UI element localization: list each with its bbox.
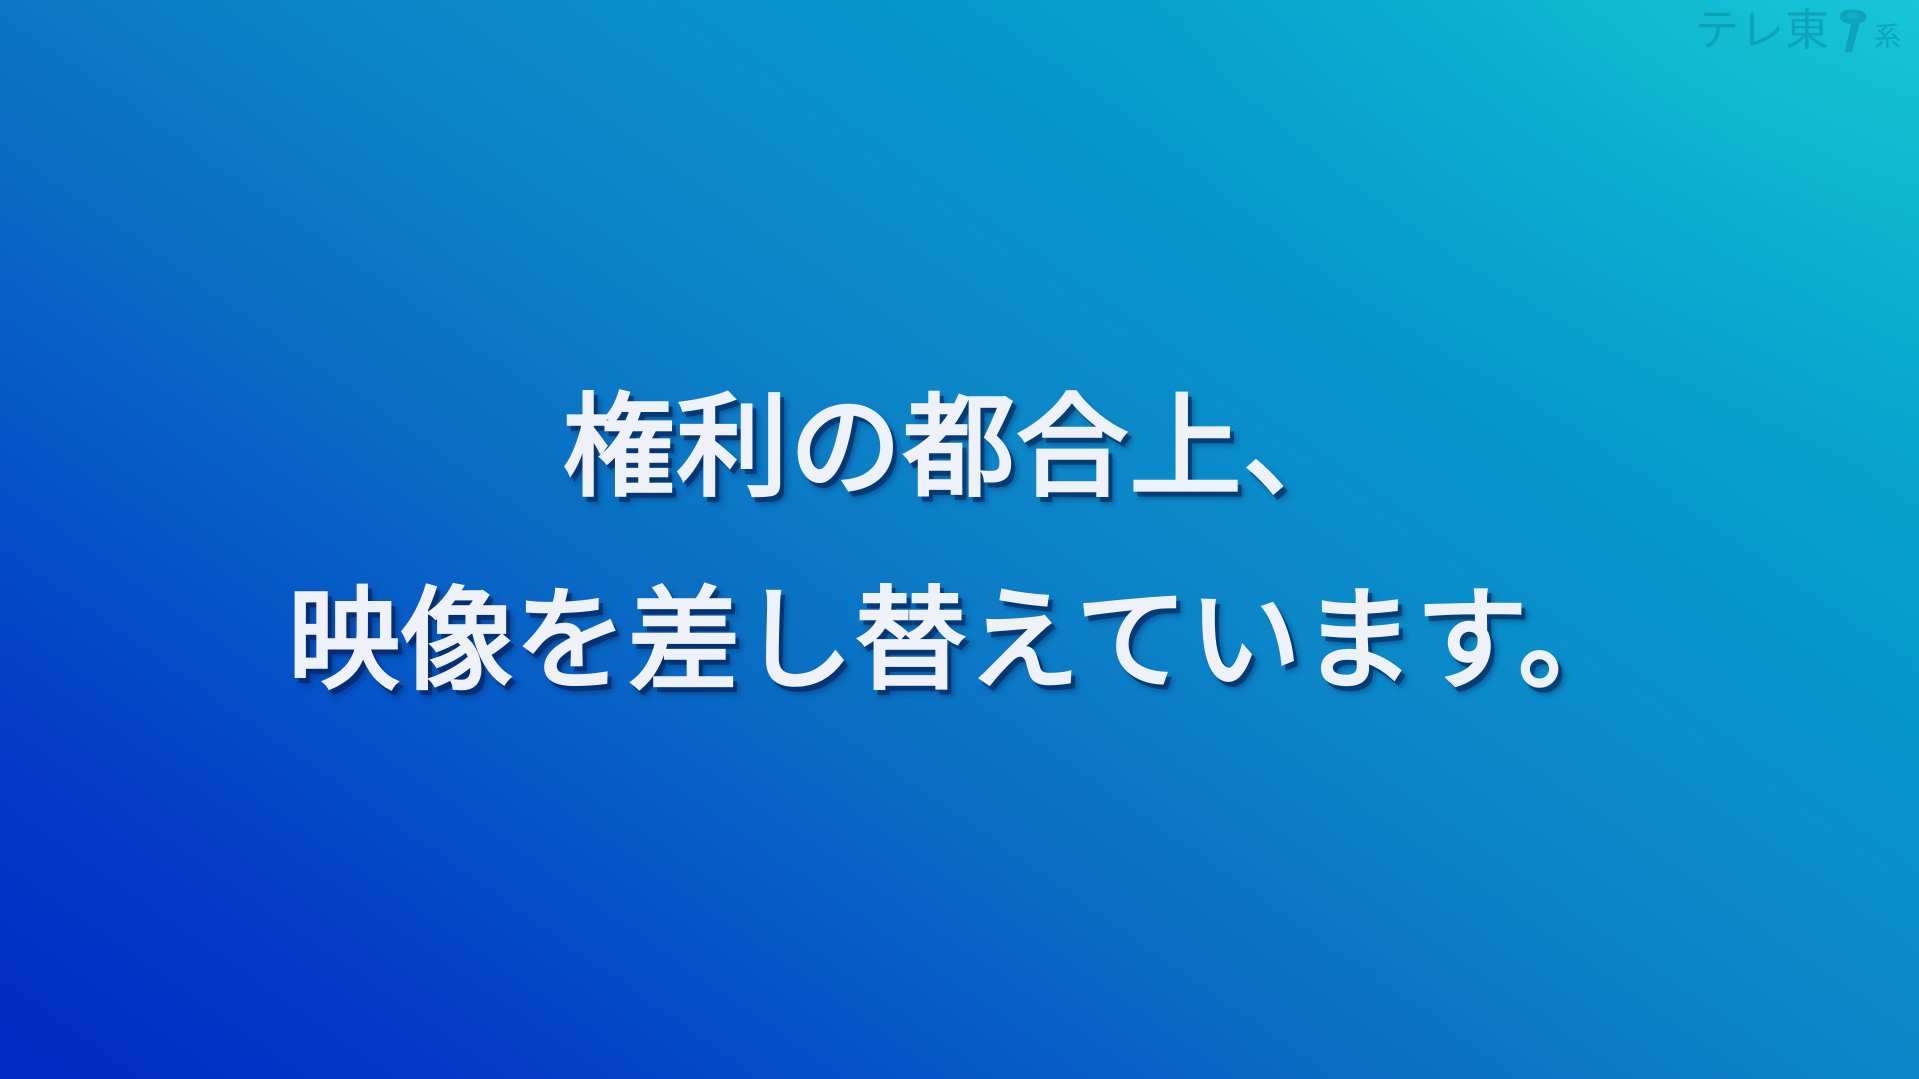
- logo-suffix-text: 系: [1874, 24, 1901, 54]
- logo-seven-icon: [1832, 8, 1872, 54]
- caption-line-2: 映像を差し替えています。: [0, 545, 1919, 738]
- caption-block: 権利の都合上、 映像を差し替えています。: [0, 352, 1919, 737]
- tv-tokyo-network-logo: テレ東 系: [1695, 8, 1901, 54]
- broadcast-notice-screen: テレ東 系 権利の都合上、 映像を差し替えています。: [0, 0, 1919, 1079]
- caption-line-1: 権利の都合上、: [0, 352, 1919, 545]
- logo-kana-text: テレ東: [1695, 9, 1830, 53]
